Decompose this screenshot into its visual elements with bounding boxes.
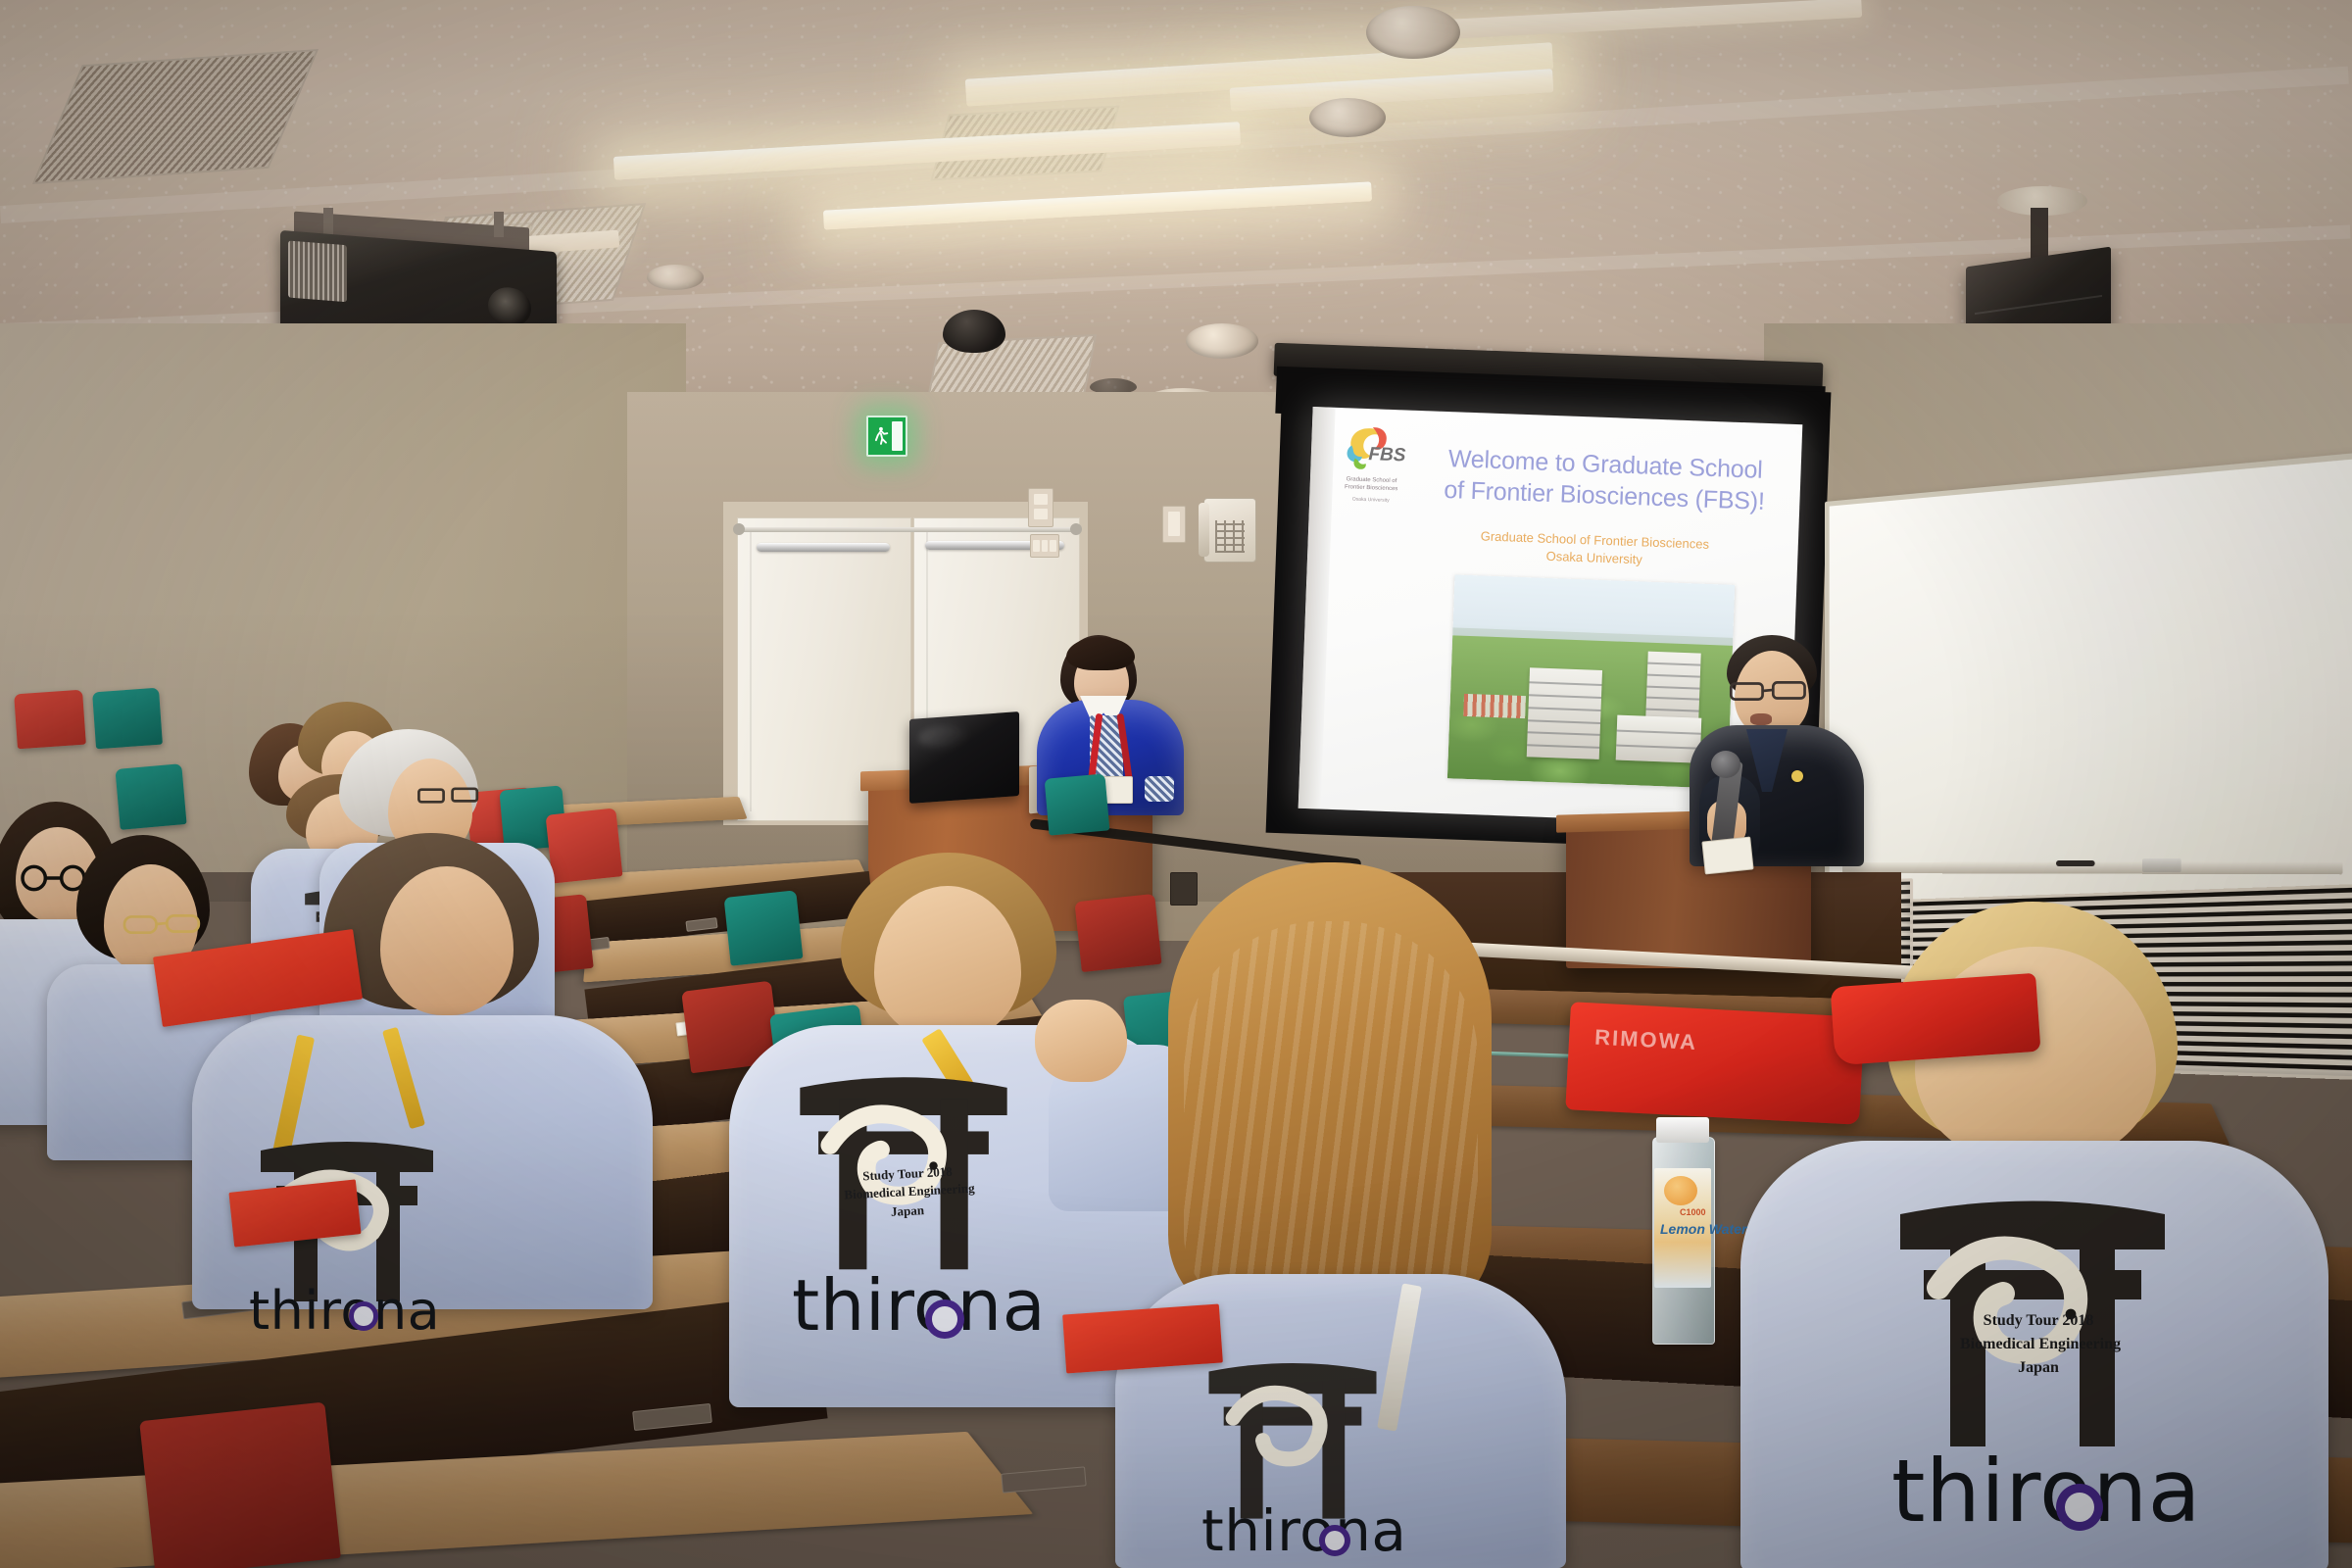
thirona-brand-text: thirona [1891,1441,2201,1542]
thirona-brand-text: thirona [1201,1497,1406,1564]
door-rail-cap-right [1070,523,1082,535]
wall-switch-plate-2[interactable] [1030,534,1059,558]
wall-mounted-telephone[interactable] [1203,498,1256,563]
whiteboard-eraser[interactable] [2142,858,2181,872]
red-bag-2 [1830,973,2040,1065]
door-panel-edge [750,527,752,811]
fbs-logo-caption-line3: Osaka University [1334,496,1408,505]
whiteboard-marker-1[interactable] [2056,860,2095,866]
projector-vent-grille [288,241,347,303]
thirona-o-accent [925,1299,964,1339]
shirt-print-line-1: Study Tour 2018 [1950,1311,2127,1330]
monitor-glare [918,723,966,749]
red-folder-3 [1062,1303,1223,1373]
desk-cable-grommet-5 [1001,1466,1086,1493]
wall-switch-plate-3[interactable] [1162,506,1186,543]
bottle-label-lemon-graphic [1664,1176,1697,1205]
projector-mount-arm-2 [494,212,504,237]
presenter-mouth [1750,713,1772,725]
door-header-rail [735,527,1080,532]
bottle-brand-text: C1000 [1680,1207,1706,1217]
water-bottle-cap[interactable] [1656,1117,1709,1143]
smoke-detector-3 [1186,323,1258,359]
thirona-brand-text: thirona [249,1280,440,1342]
glasses-icon [414,784,484,808]
fbs-logo-text: FBS [1368,444,1406,466]
thirona-brand-text: thirona [792,1264,1046,1347]
hair-strands [1184,921,1478,1313]
host-fringe [1066,637,1135,670]
smoke-detector-4 [647,265,704,290]
ceiling-dome-camera [943,310,1005,353]
chair-teal-7[interactable] [1045,773,1110,835]
campus-photo-parking-lot [1463,693,1526,717]
glasses-icon [118,911,208,937]
audience-woman-long-hair: thirona [1145,862,1586,1568]
thirona-o-accent [349,1301,378,1331]
smoke-detector-1 [1366,6,1460,59]
campus-photo-building-main [1526,667,1602,759]
male-presenter-with-microphone [1666,635,1891,860]
thirona-o-accent [2056,1484,2103,1531]
wall-switch-plate-1[interactable] [1028,488,1053,527]
bottle-product-text: Lemon Water [1660,1221,1746,1237]
door-push-bar-left[interactable] [757,543,890,552]
shirt-print-right: Study Tour 2018 Biomedical Engineering J… [1886,1182,2278,1564]
fbs-logo-caption-line2: Frontier Biosciences [1334,484,1408,494]
chair-teal-1[interactable] [92,688,163,750]
exit-sign-door-graphic [892,421,903,451]
telephone-receiver[interactable] [1199,503,1209,557]
projector-lens [488,286,531,328]
water-bottle-label: C1000 Lemon Water [1654,1168,1711,1288]
host-cuff [1145,776,1174,802]
presenter-lapel-pin [1791,770,1803,782]
fbs-logo: FBS [1339,423,1403,476]
lecture-hall-photo: FBS Graduate School of Frontier Bioscien… [0,0,2352,1568]
exit-sign-running-figure-icon [874,422,889,449]
chair-red-8[interactable] [139,1402,341,1568]
telephone-keypad[interactable] [1215,520,1244,553]
podium-monitor[interactable] [909,711,1019,804]
presenter-glasses-icon [1727,678,1811,704]
microphone-head [1711,751,1740,778]
presenter-name-badge [1701,836,1753,874]
red-bag-brand-text: RIMOWA [1594,1025,1698,1055]
emergency-exit-sign [866,416,907,457]
door-rail-cap-left [733,523,745,535]
shirt-print-line-2: Biomedical Engineering [1931,1335,2150,1353]
shirt-print-line-3: Japan [1950,1358,2127,1377]
thirona-o-accent [1319,1525,1350,1556]
projector-mount-arm [323,208,333,235]
red-bag: RIMOWA [1565,1002,1864,1125]
chair-red-1[interactable] [14,690,86,750]
smoke-detector-2 [1309,98,1386,137]
